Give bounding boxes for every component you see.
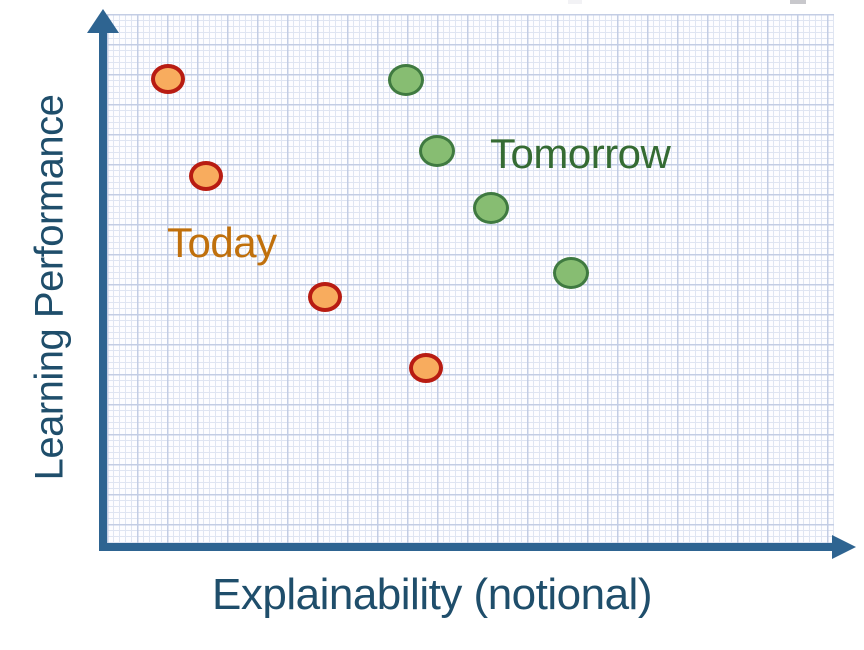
- top-edge-artifact: [790, 0, 806, 4]
- data-point-today: [308, 282, 342, 312]
- series-label-today: Today: [167, 219, 277, 267]
- plot-area-grid: [107, 14, 834, 545]
- chart-figure: Today Tomorrow Learning Performance Expl…: [0, 0, 864, 650]
- series-label-tomorrow: Tomorrow: [490, 130, 670, 178]
- data-point-today: [409, 353, 443, 383]
- x-axis-title: Explainability (notional): [0, 570, 864, 620]
- top-edge-artifact: [568, 0, 582, 4]
- y-axis-line: [99, 28, 107, 551]
- data-point-tomorrow: [388, 64, 424, 96]
- data-point-today: [189, 161, 223, 191]
- data-point-today: [151, 64, 185, 94]
- x-axis-arrow-icon: [832, 535, 856, 559]
- y-axis-arrow-icon: [87, 9, 119, 33]
- data-point-tomorrow: [473, 192, 509, 224]
- y-axis-title: Learning Performance: [28, 23, 73, 553]
- data-point-tomorrow: [553, 257, 589, 289]
- data-point-tomorrow: [419, 135, 455, 167]
- x-axis-line: [99, 543, 834, 551]
